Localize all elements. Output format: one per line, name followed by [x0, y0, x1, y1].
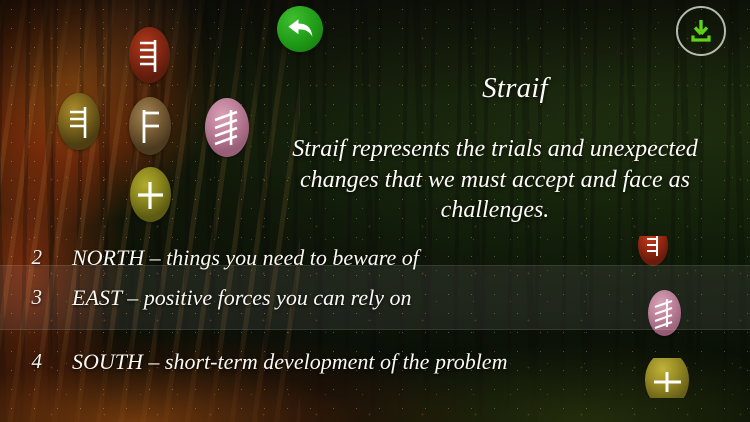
rune-stone-tan-center[interactable] — [129, 97, 171, 155]
cross-rune-icon — [130, 167, 171, 222]
four-left-bars-rune-icon — [129, 27, 170, 83]
rune-stone-pink-right[interactable] — [205, 98, 249, 157]
back-button[interactable] — [277, 6, 323, 52]
back-arrow-icon — [285, 16, 315, 42]
rune-stone-red-top[interactable] — [129, 27, 170, 83]
rune-description: Straif represents the trials and unexpec… — [272, 134, 718, 226]
two-right-bars-rune-icon — [129, 97, 171, 155]
download-icon — [687, 17, 715, 45]
list-item-label: EAST – positive forces you can rely on — [46, 285, 412, 311]
list-item-number: 4 — [0, 349, 46, 374]
list-item-number: 3 — [0, 285, 46, 310]
list-item[interactable]: 4 SOUTH – short-term development of the … — [0, 330, 750, 393]
rune-stone-olive-left[interactable] — [58, 93, 100, 150]
list-item-label: SOUTH – short-term development of the pr… — [46, 349, 507, 375]
three-left-bars-rune-icon — [58, 93, 100, 150]
download-button[interactable] — [676, 6, 726, 56]
rune-stone-yellow-low[interactable] — [130, 167, 171, 222]
page-title: Straif — [300, 72, 730, 105]
app-screen: Straif Straif represents the trials and … — [0, 0, 750, 422]
four-diagonals-rune-icon — [205, 98, 249, 157]
list-item[interactable]: 3 EAST – positive forces you can rely on — [0, 266, 750, 329]
spread-position-list: 2 NORTH – things you need to beware of 3… — [0, 228, 750, 422]
